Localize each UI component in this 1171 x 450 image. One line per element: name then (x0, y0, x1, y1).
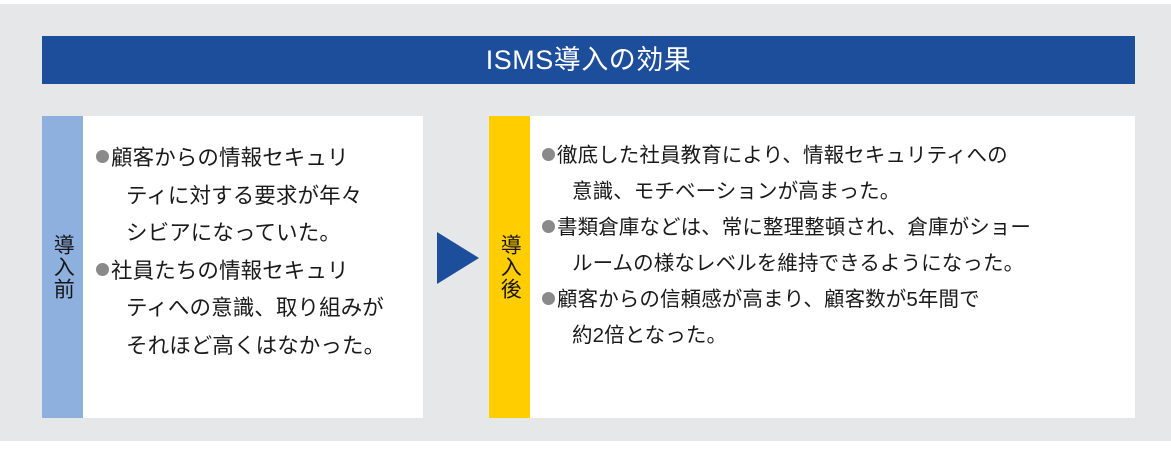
list-item: 社員たちの情報セキュリ ティへの意識、取り組みが それほど高くはなかった。 (96, 253, 415, 366)
panel-content-before: 顧客からの情報セキュリ ティに対する要求が年々 シビアになっていた。 社員たちの… (83, 116, 423, 418)
bullet-line: 書類倉庫などは、常に整理整頓され、倉庫がショー (557, 210, 1125, 246)
bullet-list-after: 徹底した社員教育により、情報セキュリティへの 意識、モチベーションが高まった。 … (530, 116, 1135, 354)
bullet-line: それほど高くはなかった。 (111, 328, 415, 366)
bullet-text: 社員たちの情報セキュリ ティへの意識、取り組みが それほど高くはなかった。 (111, 253, 415, 366)
title-bar: ISMS導入の効果 (42, 36, 1135, 84)
bullet-line: 徹底した社員教育により、情報セキュリティへの (557, 138, 1125, 174)
panel-label-after-text: 導入後 (498, 234, 522, 300)
bullet-dot-icon (542, 220, 555, 233)
bullet-line: 約2倍となった。 (557, 318, 1125, 354)
bullet-line: 顧客からの信頼感が高まり、顧客数が5年間で (557, 282, 1125, 318)
bullet-text: 顧客からの情報セキュリ ティに対する要求が年々 シビアになっていた。 (111, 140, 415, 253)
bullet-line: 社員たちの情報セキュリ (111, 253, 415, 291)
bullet-dot-icon (542, 292, 555, 305)
bullet-line: ティへの意識、取り組みが (111, 290, 415, 328)
list-item: 書類倉庫などは、常に整理整頓され、倉庫がショー ルームの様なレベルを維持できるよ… (542, 210, 1125, 282)
bullet-dot-icon (96, 150, 109, 163)
panel-content-after: 徹底した社員教育により、情報セキュリティへの 意識、モチベーションが高まった。 … (530, 116, 1135, 418)
right-arrow-icon (437, 232, 479, 284)
bullet-text: 書類倉庫などは、常に整理整頓され、倉庫がショー ルームの様なレベルを維持できるよ… (557, 210, 1125, 282)
bullet-list-before: 顧客からの情報セキュリ ティに対する要求が年々 シビアになっていた。 社員たちの… (83, 116, 423, 365)
page-title: ISMS導入の効果 (486, 47, 692, 74)
bullet-line: ルームの様なレベルを維持できるようになった。 (557, 246, 1125, 282)
list-item: 徹底した社員教育により、情報セキュリティへの 意識、モチベーションが高まった。 (542, 138, 1125, 210)
panel-label-before: 導入前 (42, 116, 83, 418)
slide-canvas: ISMS導入の効果 導入前 顧客からの情報セキュリ ティに対する要求が年々 シビ… (0, 4, 1171, 441)
bullet-line: ティに対する要求が年々 (111, 178, 415, 216)
bullet-text: 徹底した社員教育により、情報セキュリティへの 意識、モチベーションが高まった。 (557, 138, 1125, 210)
bullet-dot-icon (542, 148, 555, 161)
bullet-line: 顧客からの情報セキュリ (111, 140, 415, 178)
panel-label-before-text: 導入前 (51, 234, 75, 300)
list-item: 顧客からの信頼感が高まり、顧客数が5年間で 約2倍となった。 (542, 282, 1125, 354)
panel-label-after: 導入後 (489, 116, 530, 418)
bullet-line: 意識、モチベーションが高まった。 (557, 174, 1125, 210)
bullet-dot-icon (96, 263, 109, 276)
bullet-line: シビアになっていた。 (111, 215, 415, 253)
list-item: 顧客からの情報セキュリ ティに対する要求が年々 シビアになっていた。 (96, 140, 415, 253)
bullet-text: 顧客からの信頼感が高まり、顧客数が5年間で 約2倍となった。 (557, 282, 1125, 354)
